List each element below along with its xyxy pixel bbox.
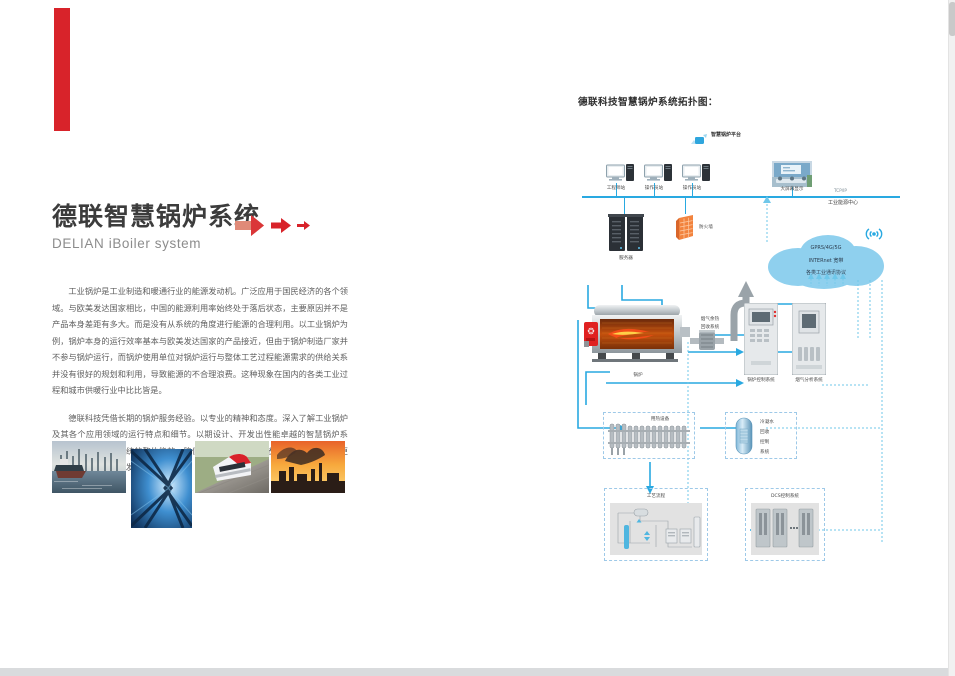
cloud-line-2: INTERnet 宽带 [766, 257, 886, 264]
waste-heat-node [690, 330, 724, 356]
arrow-small-icon [297, 221, 310, 230]
boiler-label: 锅炉 [633, 372, 642, 378]
high-speed-train-photo [195, 441, 269, 493]
condensate-label-3: 控制 [760, 439, 769, 445]
boiler-control-label: 锅炉控制系统 [747, 377, 775, 383]
firewall-icon [676, 215, 696, 241]
condensate-label-2: 回收 [760, 429, 769, 435]
server-node [608, 214, 644, 256]
big-screen-label: 大屏幕显示 [781, 186, 804, 192]
condensate-tank-icon [732, 417, 756, 455]
condensate-label-1: 冷凝水 [760, 419, 774, 425]
dcs-label: DCS控制系统 [771, 493, 799, 499]
document-page: 德联智慧锅炉系统 DELIAN iBoiler system 工业锅炉是工业制造… [0, 0, 948, 668]
power-plant-photo [271, 441, 345, 493]
heat-exchanger-icon [690, 330, 724, 352]
tcpip-bus [582, 196, 900, 198]
flue-gas-node [792, 303, 826, 379]
boiler-control-node [744, 303, 778, 379]
paragraph-1: 工业锅炉是工业制造和暖通行业的能源发动机。广泛应用于国民经济的各个领域。与欧美发… [52, 283, 348, 399]
computer-icon [644, 163, 674, 183]
meeting-room-screen-icon [772, 161, 812, 187]
workstation-engineer [606, 163, 636, 187]
energy-center-label: 工业能源中心 [828, 199, 858, 206]
signal-tower-icon [865, 225, 883, 243]
boiler-node [584, 301, 692, 375]
computer-icon [606, 163, 636, 183]
workstation-engineer-label: 工程师站 [607, 185, 625, 191]
cloud-platform-icon [690, 133, 708, 145]
ship-port-photo [52, 441, 126, 493]
server-link [624, 196, 625, 214]
cloud-line-1: GPRS/4G/5G [766, 245, 886, 251]
topology-diagram: 德联科技智慧锅炉系统拓扑图： 智慧锅炉平台 TCP/IP 工业能源中心 [560, 85, 920, 585]
glass-building-photo [131, 449, 192, 528]
scrollbar-thumb[interactable] [949, 2, 955, 36]
firewall-link [685, 196, 686, 214]
firewall-label: 防火墙 [699, 224, 713, 230]
workstation-operator-2-label: 操作员站 [683, 185, 701, 191]
workstation-operator-1 [644, 163, 674, 187]
condensate-label-4: 系统 [760, 449, 769, 455]
arrow-medium-icon [271, 218, 291, 233]
dcs-cabinets-icon [751, 503, 819, 555]
waste-heat-label-line1: 烟气余热 [701, 316, 719, 322]
server-rack-icon [608, 214, 644, 252]
process-flow-label: 工艺流程 [647, 493, 665, 499]
analyzer-cabinet-icon [792, 303, 826, 375]
bus-label: TCP/IP [834, 188, 847, 193]
platform-label: 智慧锅炉平台 [711, 131, 741, 138]
workstation-operator-2 [682, 163, 712, 187]
pid-schematic-icon [610, 503, 702, 555]
workstation-operator-1-label: 操作员站 [645, 185, 663, 191]
flue-gas-label: 烟气分析系统 [795, 377, 823, 383]
platform-node: 智慧锅炉平台 [690, 130, 708, 149]
arrow-large-icon [235, 215, 264, 236]
accent-bar [54, 8, 70, 131]
waste-heat-label-line2: 回收系统 [701, 324, 719, 330]
arrow-decoration [233, 212, 313, 242]
boiler-icon [584, 301, 692, 371]
topology-title: 德联科技智慧锅炉系统拓扑图： [578, 94, 718, 108]
server-label: 服务器 [619, 255, 633, 261]
computer-icon [682, 163, 712, 183]
control-cabinet-icon [744, 303, 778, 375]
vertical-scrollbar[interactable] [948, 0, 955, 676]
firewall-node [676, 215, 696, 245]
radiator-icon [608, 422, 690, 456]
